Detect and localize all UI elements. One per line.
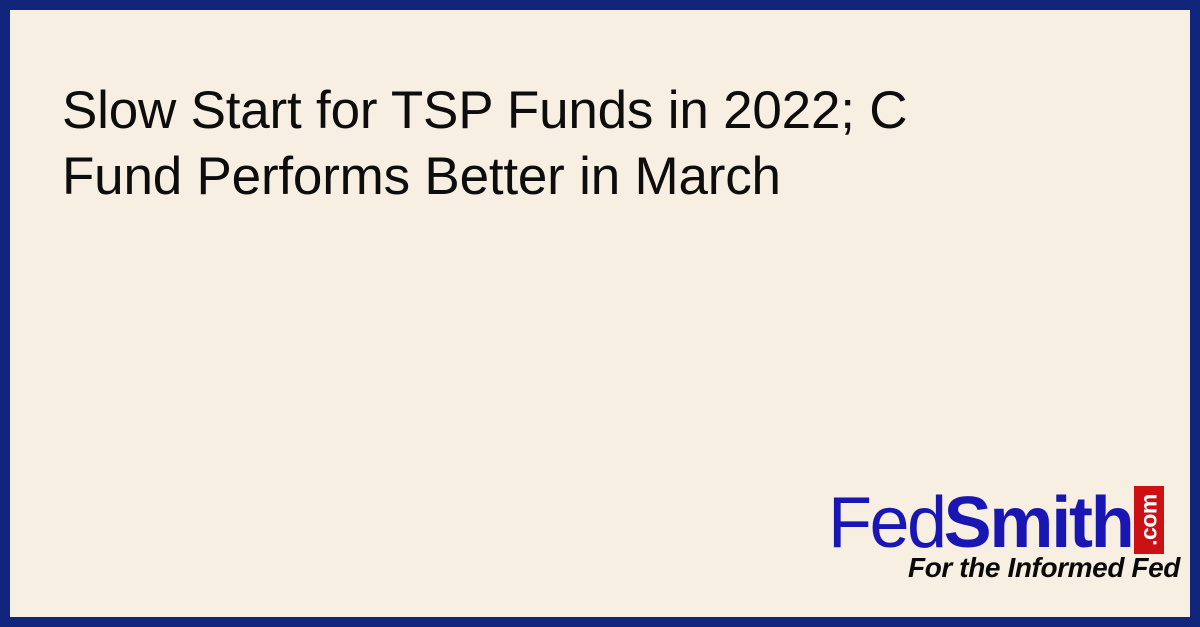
logo-dotcom-badge: .com [1134, 486, 1164, 554]
logo-text-smith: Smith [944, 490, 1133, 556]
logo-text-fed: Fed [828, 490, 945, 556]
logo-text-dotcom: .com [1137, 494, 1160, 546]
article-share-card: Slow Start for TSP Funds in 2022; C Fund… [0, 0, 1200, 627]
logo-tagline: For the Informed Fed [908, 552, 1180, 584]
page-title: Slow Start for TSP Funds in 2022; C Fund… [62, 78, 1022, 210]
fedsmith-logo[interactable]: FedSmith.com For the Informed Fed [828, 480, 1180, 592]
logo-wordmark: FedSmith.com [828, 480, 1180, 556]
